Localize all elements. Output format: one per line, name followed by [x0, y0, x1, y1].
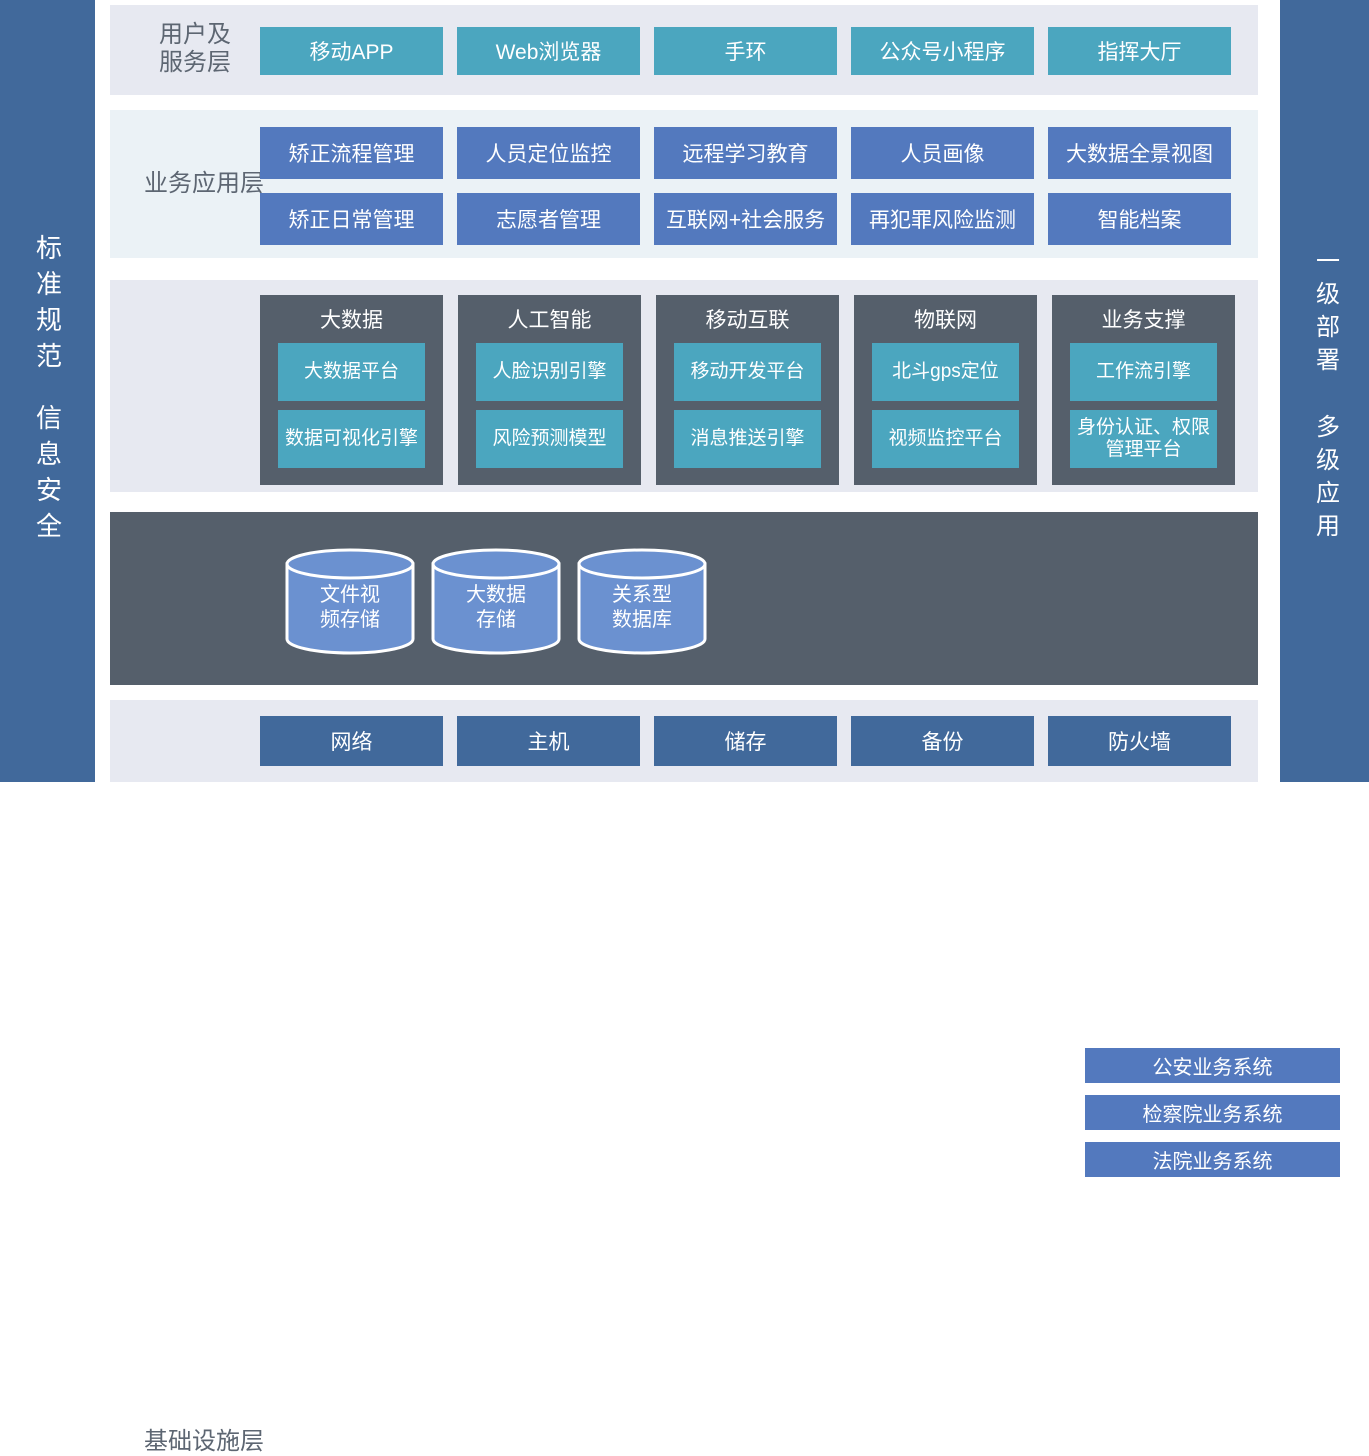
support-card-item[interactable]: 北斗gps定位 [872, 343, 1019, 401]
infrastructure-item[interactable]: 备份 [851, 716, 1034, 766]
layer-label-user-service: 用户及 服务层 [130, 21, 260, 78]
support-card-iot: 物联网 北斗gps定位 视频监控平台 [854, 295, 1037, 485]
business-application-item[interactable]: 大数据全景视图 [1048, 127, 1231, 179]
database-cylinder-relational[interactable]: 关系型 数据库 [577, 548, 707, 655]
business-application-item[interactable]: 互联网+社会服务 [654, 193, 837, 245]
right-rail-deployment: 一级部署 多级应用 [1280, 0, 1369, 782]
left-rail-standards-security: 标准规范 信息安全 [0, 0, 95, 782]
support-card-item[interactable]: 移动开发平台 [674, 343, 821, 401]
support-card-title: 大数据 [320, 304, 383, 334]
external-system-item[interactable]: 检察院业务系统 [1085, 1095, 1340, 1130]
user-service-item[interactable]: 移动APP [260, 27, 443, 75]
business-application-item[interactable]: 志愿者管理 [457, 193, 640, 245]
right-rail-line-1: 一级部署 [1313, 248, 1337, 380]
support-card-ai: 人工智能 人脸识别引擎 风险预测模型 [458, 295, 641, 485]
user-service-item[interactable]: 公众号小程序 [851, 27, 1034, 75]
support-card-title: 移动互联 [706, 304, 790, 334]
infrastructure-item-row: 网络 主机 储存 备份 防火墙 [260, 716, 1231, 766]
right-rail-line-2: 多级应用 [1313, 414, 1337, 546]
database-cylinder-label: 文件视 频存储 [285, 548, 415, 655]
layer-label-infrastructure: 基础设施层 [124, 1428, 284, 1456]
business-application-grid: 矫正流程管理 人员定位监控 远程学习教育 人员画像 大数据全景视图 矫正日常管理… [260, 127, 1231, 245]
support-card-title: 人工智能 [508, 304, 592, 334]
infrastructure-item[interactable]: 储存 [654, 716, 837, 766]
application-support-card-row: 大数据 大数据平台 数据可视化引擎 人工智能 人脸识别引擎 风险预测模型 移动互… [260, 295, 1235, 485]
business-application-item[interactable]: 智能档案 [1048, 193, 1231, 245]
user-service-item[interactable]: Web浏览器 [457, 27, 640, 75]
support-card-item[interactable]: 风险预测模型 [476, 410, 623, 468]
infrastructure-item[interactable]: 网络 [260, 716, 443, 766]
external-system-item[interactable]: 公安业务系统 [1085, 1048, 1340, 1083]
layer-infrastructure: 基础设施层 网络 主机 储存 备份 防火墙 [110, 700, 1258, 782]
support-card-item[interactable]: 视频监控平台 [872, 410, 1019, 468]
support-card-mobile-internet: 移动互联 移动开发平台 消息推送引擎 [656, 295, 839, 485]
data-store-group: 文件视 频存储 大数据 存储 关系型 数据库 [285, 548, 707, 655]
database-cylinder-label: 大数据 存储 [431, 548, 561, 655]
user-service-item-row: 移动APP Web浏览器 手环 公众号小程序 指挥大厅 [260, 27, 1231, 75]
support-card-item[interactable]: 身份认证、权限 管理平台 [1070, 410, 1217, 468]
support-card-title: 业务支撑 [1102, 304, 1186, 334]
business-application-row: 矫正流程管理 人员定位监控 远程学习教育 人员画像 大数据全景视图 [260, 127, 1231, 179]
support-card-item[interactable]: 大数据平台 [278, 343, 425, 401]
layer-label-data-resource: 数据资源层 [124, 1092, 284, 1120]
support-card-item[interactable]: 消息推送引擎 [674, 410, 821, 468]
support-card-bigdata: 大数据 大数据平台 数据可视化引擎 [260, 295, 443, 485]
architecture-diagram: 标准规范 信息安全 一级部署 多级应用 用户及 服务层 移动APP Web浏览器… [0, 0, 1369, 782]
bidirectional-exchange-arrows-icon [870, 1072, 962, 1132]
support-card-item[interactable]: 人脸识别引擎 [476, 343, 623, 401]
layer-application-support: 应用支撑层 大数据 大数据平台 数据可视化引擎 人工智能 人脸识别引擎 风险预测… [110, 280, 1258, 492]
database-cylinder-label: 关系型 数据库 [577, 548, 707, 655]
infrastructure-item[interactable]: 防火墙 [1048, 716, 1231, 766]
user-service-item[interactable]: 手环 [654, 27, 837, 75]
support-card-item[interactable]: 数据可视化引擎 [278, 410, 425, 468]
business-application-item[interactable]: 人员画像 [851, 127, 1034, 179]
business-application-item[interactable]: 矫正流程管理 [260, 127, 443, 179]
database-cylinder-file-video[interactable]: 文件视 频存储 [285, 548, 415, 655]
blockchain-label: 区块链 [990, 1090, 1059, 1122]
layer-data-resource: 数据资源层 文件视 频存储 大数据 存储 [110, 512, 1258, 685]
database-cylinder-bigdata[interactable]: 大数据 存储 [431, 548, 561, 655]
left-rail-line-1: 标准规范 [35, 234, 61, 378]
support-card-item[interactable]: 工作流引擎 [1070, 343, 1217, 401]
business-application-row: 矫正日常管理 志愿者管理 互联网+社会服务 再犯罪风险监测 智能档案 [260, 193, 1231, 245]
business-application-item[interactable]: 人员定位监控 [457, 127, 640, 179]
business-application-item[interactable]: 再犯罪风险监测 [851, 193, 1034, 245]
support-card-business-support: 业务支撑 工作流引擎 身份认证、权限 管理平台 [1052, 295, 1235, 485]
layer-user-service: 用户及 服务层 移动APP Web浏览器 手环 公众号小程序 指挥大厅 [110, 5, 1258, 95]
infrastructure-item[interactable]: 主机 [457, 716, 640, 766]
support-card-title: 物联网 [914, 304, 977, 334]
layer-business-application: 业务应用层 矫正流程管理 人员定位监控 远程学习教育 人员画像 大数据全景视图 … [110, 110, 1258, 258]
external-system-item[interactable]: 法院业务系统 [1085, 1142, 1340, 1177]
business-application-item[interactable]: 矫正日常管理 [260, 193, 443, 245]
business-application-item[interactable]: 远程学习教育 [654, 127, 837, 179]
external-system-list: 公安业务系统 检察院业务系统 法院业务系统 [1085, 1048, 1340, 1177]
user-service-item[interactable]: 指挥大厅 [1048, 27, 1231, 75]
left-rail-line-2: 信息安全 [35, 404, 61, 548]
